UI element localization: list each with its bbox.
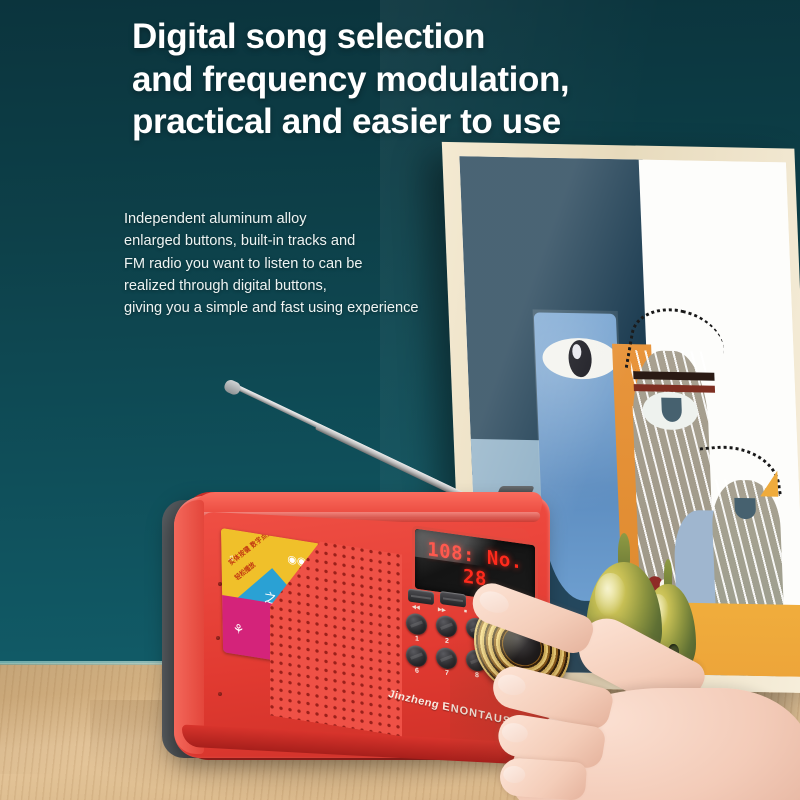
key-micro-label: ■ <box>464 608 467 614</box>
body-copy-line-5: giving you a simple and fast using exper… <box>124 297 524 319</box>
key-micro-label: ◀◀ <box>412 604 420 611</box>
keypad-label-1: 1 <box>410 635 424 644</box>
fingernail <box>503 765 526 783</box>
radio-left-side-panel <box>174 500 204 754</box>
fingernail <box>477 588 512 617</box>
function-bar-button-2[interactable] <box>440 591 466 608</box>
function-bar-button-1[interactable] <box>408 588 434 605</box>
headline-line-2: and frequency modulation, <box>132 59 772 102</box>
screw-dot <box>218 692 222 696</box>
headline: Digital song selection and frequency mod… <box>132 16 772 144</box>
telescopic-antenna[interactable] <box>232 382 524 500</box>
body-copy-line-1: Independent aluminum alloy <box>124 208 524 230</box>
body-copy-line-4: realized through digital buttons, <box>124 275 524 297</box>
body-copy: Independent aluminum alloy enlarged butt… <box>124 208 524 320</box>
body-copy-line-3: FM radio you want to listen to can be <box>124 253 524 275</box>
headline-line-1: Digital song selection <box>132 16 772 59</box>
body-copy-line-2: enlarged buttons, built-in tracks and <box>124 230 524 252</box>
keypad-button-6[interactable] <box>406 644 427 668</box>
little-finger <box>499 757 587 800</box>
product-advertisement-scene: ♫ ◉◉ 之 ⚘ 实体按键 数字点播 轻松播放 108: No. 28 ◀◀ ▶… <box>0 0 800 800</box>
key-micro-label: ▶▶ <box>438 607 446 614</box>
fingernail <box>501 721 530 744</box>
screw-dot <box>216 636 220 640</box>
keypad-button-1[interactable] <box>406 612 427 636</box>
headline-line-3: practical and easier to use <box>132 101 772 144</box>
keypad-label-6: 6 <box>410 667 424 676</box>
hand-pressing-dial <box>470 592 800 800</box>
keypad-button-2[interactable] <box>436 614 457 638</box>
microphone-icon: ⚘ <box>233 622 245 637</box>
fingernail <box>496 672 528 698</box>
